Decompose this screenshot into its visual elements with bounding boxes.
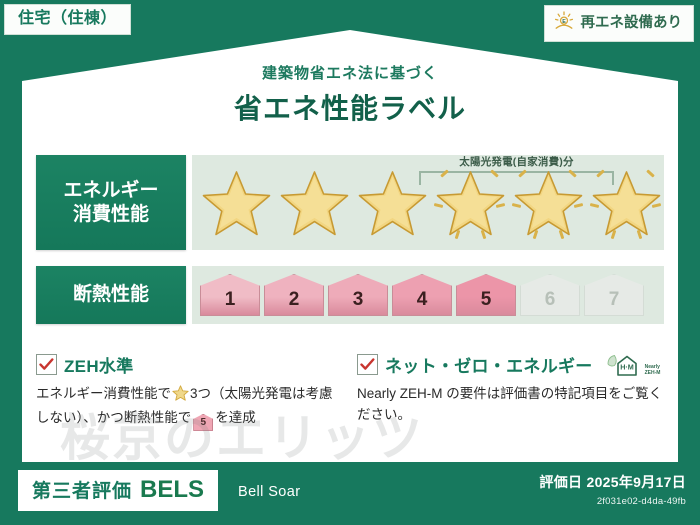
energy-performance-label-card: 住宅（住棟） E 再エネ設備あり 建築物省エネ法に基づく 省エネ性能ラベル xyxy=(0,0,700,525)
title-block: 建築物省エネ法に基づく 省エネ性能ラベル xyxy=(0,62,700,127)
insulation-performance-row: 断熱性能 1234567 xyxy=(36,266,664,324)
star-icon xyxy=(278,168,351,238)
check-icon xyxy=(36,354,57,375)
note-nze-body: Nearly ZEH-M の要件は評価書の特記項目をご覧ください。 xyxy=(357,384,664,426)
note-zeh-title: ZEH水準 xyxy=(64,352,134,377)
bels-en-label: BELS xyxy=(140,476,204,504)
insulation-level-badge-3: 3 xyxy=(328,274,388,316)
energy-stars-panel: 太陽光発電(自家消費)分 xyxy=(192,155,664,250)
star-icon xyxy=(200,168,273,238)
evaluation-id: 2f031e02-d4da-49fb xyxy=(539,496,686,507)
star-icon-solar xyxy=(512,168,585,238)
star-icon xyxy=(172,385,189,408)
note-zeh-standard: ZEH水準 エネルギー消費性能で3つ（太陽光発電は考慮しない）、かつ断熱性能で5… xyxy=(36,352,343,431)
house-type-tag: 住宅（住棟） xyxy=(4,4,131,35)
note-net-zero-energy: ネット・ゼロ・エネルギー H·M Nearly ZEH-M Nearly ZEH… xyxy=(357,352,664,431)
insulation-level-badge-7: 7 xyxy=(584,274,644,316)
star-icon-solar xyxy=(590,168,663,238)
insulation-level-badge-2: 2 xyxy=(264,274,324,316)
bell-soar-label: Bell Soar xyxy=(238,484,300,500)
bels-certification-box: 第三者評価 BELS xyxy=(18,470,218,511)
sun-icon: E xyxy=(553,11,575,35)
svg-text:H·M: H·M xyxy=(620,362,634,371)
renewable-badge-label: 再エネ設備あり xyxy=(581,16,683,31)
insulation-levels-panel: 1234567 xyxy=(192,266,664,324)
note-zeh-body: エネルギー消費性能で3つ（太陽光発電は考慮しない）、かつ断熱性能で5を達成 xyxy=(36,384,343,431)
note-nze-header: ネット・ゼロ・エネルギー H·M Nearly ZEH-M xyxy=(357,352,664,377)
title-main: 省エネ性能ラベル xyxy=(0,87,700,127)
star-icon-solar xyxy=(434,168,507,238)
bels-jp-label: 第三者評価 xyxy=(32,476,132,503)
insulation-level-badge-1: 1 xyxy=(200,274,260,316)
note-zeh-header: ZEH水準 xyxy=(36,352,343,377)
insulation-level-inline-badge: 5 xyxy=(193,414,213,431)
insulation-level-list: 1234567 xyxy=(192,274,644,316)
check-icon xyxy=(357,354,378,375)
insulation-level-badge-4: 4 xyxy=(392,274,452,316)
star-rating xyxy=(192,168,664,238)
energy-performance-label: エネルギー 消費性能 xyxy=(36,155,186,250)
star-icon xyxy=(356,168,429,238)
insulation-level-badge-6: 6 xyxy=(520,274,580,316)
footer-meta: 評価日 2025年9月17日 2f031e02-d4da-49fb xyxy=(539,472,686,507)
zeh-m-logo: H·M Nearly ZEH-M xyxy=(605,353,661,377)
evaluation-date: 評価日 2025年9月17日 xyxy=(539,472,686,492)
notes-section: ZEH水準 エネルギー消費性能で3つ（太陽光発電は考慮しない）、かつ断熱性能で5… xyxy=(36,352,664,431)
svg-text:E: E xyxy=(562,19,566,25)
energy-performance-row: エネルギー 消費性能 太陽光発電(自家消費)分 xyxy=(36,155,664,250)
insulation-performance-label: 断熱性能 xyxy=(36,266,186,324)
zeh-m-logo-subtext: Nearly ZEH-M xyxy=(645,364,661,377)
insulation-level-badge-5: 5 xyxy=(456,274,516,316)
footer-bar: 第三者評価 BELS Bell Soar 評価日 2025年9月17日 2f03… xyxy=(0,462,700,525)
renewable-equipment-badge: E 再エネ設備あり xyxy=(544,5,695,42)
note-nze-title: ネット・ゼロ・エネルギー xyxy=(385,352,593,377)
title-subtitle: 建築物省エネ法に基づく xyxy=(0,62,700,83)
